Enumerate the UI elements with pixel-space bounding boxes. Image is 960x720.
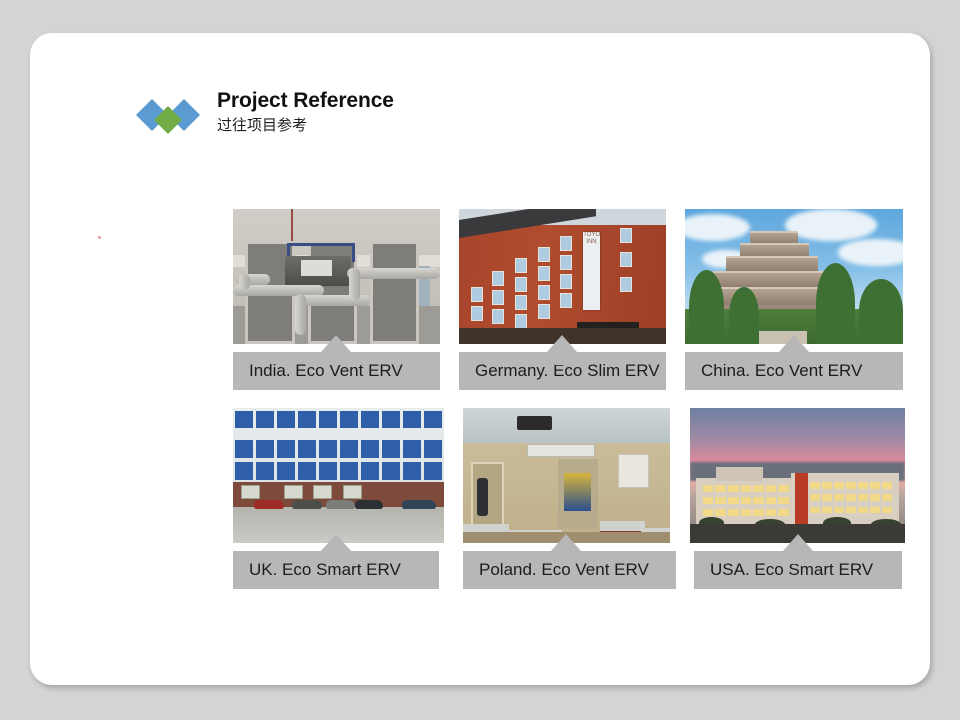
caption-arrow bbox=[321, 335, 351, 352]
photo-germany-hotel: TOYOKO INN bbox=[459, 209, 666, 344]
reference-card-usa[interactable]: USA. Eco Smart ERV bbox=[690, 408, 905, 543]
caption-arrow bbox=[547, 335, 577, 352]
photo-uk-school bbox=[233, 408, 444, 543]
header-text-block: Project Reference 过往项目参考 bbox=[217, 88, 394, 135]
slide-header: Project Reference 过往项目参考 bbox=[135, 88, 394, 137]
caption-arrow-stem bbox=[329, 351, 343, 365]
photo-poland-classroom bbox=[463, 408, 670, 543]
photo-china-terraced-building bbox=[685, 209, 903, 344]
caption-label: China. Eco Vent ERV bbox=[701, 361, 862, 381]
caption-arrow bbox=[321, 534, 351, 551]
three-diamonds-logo bbox=[135, 97, 201, 137]
slide-card: Project Reference 过往项目参考 bbox=[30, 33, 930, 685]
reference-grid: India. Eco Vent ERV bbox=[233, 209, 933, 607]
caption-arrow-stem bbox=[555, 351, 569, 365]
caption-label: India. Eco Vent ERV bbox=[249, 361, 403, 381]
caption-arrow-stem bbox=[559, 550, 573, 564]
page-title: Project Reference bbox=[217, 88, 394, 114]
photo-usa-campus bbox=[690, 408, 905, 543]
caption-arrow-stem bbox=[787, 351, 801, 365]
reference-card-poland[interactable]: Poland. Eco Vent ERV bbox=[463, 408, 670, 543]
stray-mark bbox=[98, 236, 101, 239]
reference-card-india[interactable]: India. Eco Vent ERV bbox=[233, 209, 440, 344]
caption-arrow bbox=[783, 534, 813, 551]
reference-card-china[interactable]: China. Eco Vent ERV bbox=[685, 209, 903, 344]
caption-arrow-stem bbox=[329, 550, 343, 564]
hotel-sign-text: TOYOKO INN bbox=[583, 232, 600, 310]
reference-card-uk[interactable]: UK. Eco Smart ERV bbox=[233, 408, 444, 543]
reference-card-germany[interactable]: TOYOKO INN Germany. Eco Slim ERV bbox=[459, 209, 666, 344]
caption-arrow bbox=[551, 534, 581, 551]
caption-arrow-stem bbox=[791, 550, 805, 564]
caption-label: UK. Eco Smart ERV bbox=[249, 560, 401, 580]
page-subtitle: 过往项目参考 bbox=[217, 115, 394, 135]
reference-row-2: UK. Eco Smart ERV bbox=[233, 408, 933, 607]
reference-row-1: India. Eco Vent ERV bbox=[233, 209, 933, 408]
caption-arrow bbox=[779, 335, 809, 352]
photo-india-ductwork bbox=[233, 209, 440, 344]
